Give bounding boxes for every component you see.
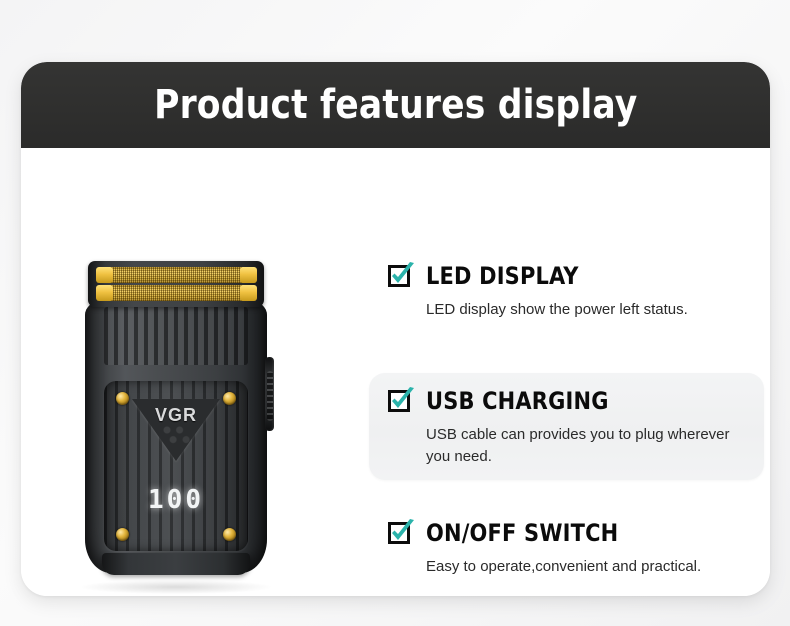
product-image-pane: VGR 100 [21, 148, 361, 596]
shaver-foil-lower [107, 285, 247, 301]
feature-heading: ON/OFF SWITCH [387, 519, 754, 547]
checkbox-checked-icon [387, 262, 415, 290]
side-grip-texture [267, 371, 273, 421]
feature-heading: USB CHARGING [387, 387, 754, 415]
feature-title: LED DISPLAY [426, 262, 579, 290]
checkbox-checked-icon [387, 519, 415, 547]
feature-description: USB cable can provides you to plug where… [426, 424, 754, 468]
screw-bottom-left [116, 528, 129, 541]
shaver-base [102, 553, 250, 575]
content-card: Product features display [21, 62, 770, 596]
foil-cap-bottom-right [240, 285, 257, 301]
product-feature-banner: Product features display [0, 0, 790, 626]
product-shaver-illustration: VGR 100 [76, 253, 276, 583]
checkbox-checked-icon [387, 387, 415, 415]
brand-logo-text: VGR [132, 405, 220, 426]
banner-body: VGR 100 [21, 148, 770, 596]
foil-cap-top-right [240, 267, 257, 283]
product-shadow [81, 580, 271, 594]
feature-item-on-off-switch: ON/OFF SWITCH Easy to operate,convenient… [369, 505, 764, 590]
shaver-vent-ribs [104, 307, 248, 365]
screw-top-right [223, 392, 236, 405]
page-title: Product features display [154, 82, 637, 128]
screw-bottom-right [223, 528, 236, 541]
feature-item-led-display: LED DISPLAY LED display show the power l… [369, 248, 764, 333]
shaver-head [88, 261, 264, 307]
feature-list: LED DISPLAY LED display show the power l… [361, 148, 770, 596]
shaver-foil-upper [107, 267, 247, 283]
feature-title: ON/OFF SWITCH [426, 519, 618, 547]
feature-item-usb-charging: USB CHARGING USB cable can provides you … [369, 373, 764, 480]
banner-header: Product features display [21, 62, 770, 148]
feature-description: LED display show the power left status. [426, 299, 754, 321]
feature-description: Easy to operate,convenient and practical… [426, 556, 754, 578]
foil-cap-top-left [96, 267, 113, 283]
foil-cap-bottom-left [96, 285, 113, 301]
screw-top-left [116, 392, 129, 405]
brand-badge: VGR [132, 399, 220, 461]
feature-heading: LED DISPLAY [387, 262, 754, 290]
feature-title: USB CHARGING [426, 387, 609, 415]
led-battery-display: 100 [76, 485, 276, 515]
